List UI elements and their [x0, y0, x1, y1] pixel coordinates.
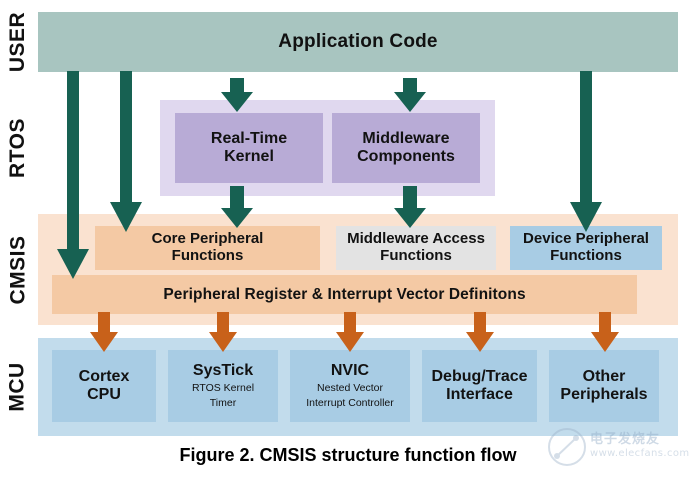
rtos-layer-container: Real-Time Kernel Middleware Components: [160, 100, 495, 196]
layer-label-cmsis-text: CMSIS: [6, 235, 30, 304]
mcu-systick-sub1: RTOS Kernel: [192, 382, 254, 395]
mcu-cortex-line1: Cortex: [79, 368, 130, 386]
mcu-other-line1: Other: [583, 368, 626, 386]
mcu-other-line2: Peripherals: [560, 386, 647, 404]
cmsis-core-peripheral-functions-box: Core Peripheral Functions: [95, 226, 320, 270]
cmsis-devperiph-line2: Functions: [550, 248, 622, 265]
application-code-block: Application Code: [38, 12, 678, 72]
cmsis-devperiph-line1: Device Peripheral: [523, 231, 649, 248]
mcu-systick-box: SysTick RTOS Kernel Timer: [168, 350, 278, 422]
mcu-systick-line1: SysTick: [193, 362, 253, 380]
layer-label-user-text: USER: [6, 12, 30, 72]
peripheral-register-bar-label: Peripheral Register & Interrupt Vector D…: [163, 286, 525, 304]
arrow-user-to-core-peripheral: [108, 71, 144, 234]
cmsis-structure-figure: USER RTOS CMSIS MCU Application Code Rea…: [0, 0, 696, 479]
cmsis-core-line1: Core Peripheral: [152, 231, 264, 248]
cmsis-middleware-access-functions-box: Middleware Access Functions: [336, 226, 496, 270]
cmsis-mwaccess-line2: Functions: [380, 248, 452, 265]
mcu-debug-line2: Interface: [446, 386, 513, 404]
layer-label-mcu: MCU: [0, 338, 36, 436]
layer-label-cmsis: CMSIS: [0, 214, 36, 325]
mcu-cortex-line2: CPU: [87, 386, 121, 404]
mcu-nvic-line1: NVIC: [331, 362, 369, 380]
mcu-systick-sub2: Timer: [210, 397, 236, 410]
mcu-nvic-box: NVIC Nested Vector Interrupt Controller: [290, 350, 410, 422]
mcu-nvic-sub2: Interrupt Controller: [306, 397, 394, 410]
layer-label-mcu-text: MCU: [6, 362, 30, 411]
mcu-cortex-cpu-box: Cortex CPU: [52, 350, 156, 422]
peripheral-register-interrupt-vector-bar: Peripheral Register & Interrupt Vector D…: [52, 275, 637, 314]
rtos-kernel-line2: Kernel: [224, 148, 274, 166]
rtos-middleware-components-box: Middleware Components: [332, 113, 480, 183]
rtos-kernel-line1: Real-Time: [211, 130, 287, 148]
figure-caption-text: Figure 2. CMSIS structure function flow: [179, 445, 516, 465]
mcu-other-peripherals-box: Other Peripherals: [549, 350, 659, 422]
layer-label-user: USER: [0, 12, 36, 72]
mcu-debug-trace-interface-box: Debug/Trace Interface: [422, 350, 537, 422]
figure-caption: Figure 2. CMSIS structure function flow: [0, 445, 696, 466]
application-code-label: Application Code: [278, 31, 437, 53]
layer-label-rtos-text: RTOS: [6, 118, 30, 178]
arrow-user-to-device-peripheral: [568, 71, 604, 234]
cmsis-mwaccess-line1: Middleware Access: [347, 231, 485, 248]
rtos-real-time-kernel-box: Real-Time Kernel: [175, 113, 323, 183]
layer-label-rtos: RTOS: [0, 100, 36, 196]
rtos-middleware-line1: Middleware: [362, 130, 449, 148]
mcu-debug-line1: Debug/Trace: [431, 368, 527, 386]
cmsis-device-peripheral-functions-box: Device Peripheral Functions: [510, 226, 662, 270]
cmsis-core-line2: Functions: [172, 248, 244, 265]
rtos-middleware-line2: Components: [357, 148, 455, 166]
mcu-nvic-sub1: Nested Vector: [317, 382, 383, 395]
